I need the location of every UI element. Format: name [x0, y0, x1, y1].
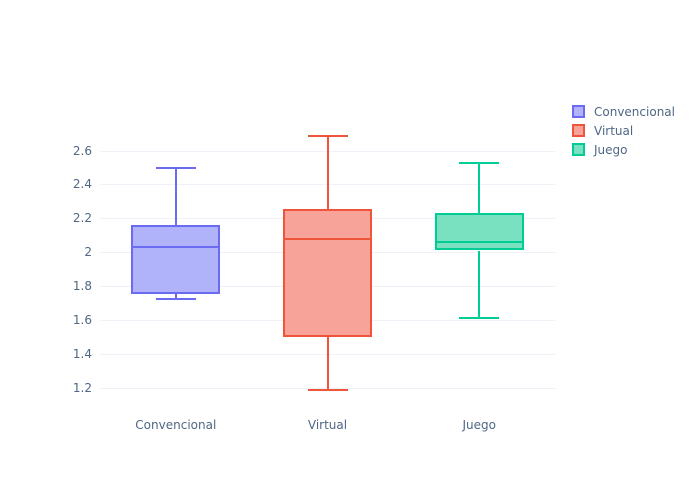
lower-whisker-cap	[459, 317, 499, 319]
y-axis-tick-label: 1.4	[52, 347, 92, 361]
y-axis-tick-label: 1.6	[52, 313, 92, 327]
y-axis-tick-label: 2.6	[52, 144, 92, 158]
legend-swatch-icon	[572, 105, 585, 118]
legend-item-label: Juego	[594, 144, 628, 156]
median-line	[283, 238, 372, 240]
upper-whisker-cap	[156, 167, 196, 169]
lower-whisker-stem	[327, 337, 329, 391]
x-axis-tick-label-juego: Juego	[462, 418, 496, 432]
upper-whisker-cap	[459, 162, 499, 164]
y-axis-tick-label: 2	[52, 245, 92, 259]
box-iqr-rect[interactable]	[283, 209, 372, 337]
x-axis-tick-label-virtual: Virtual	[308, 418, 347, 432]
legend-item-convencional[interactable]: Convencional	[572, 102, 696, 121]
upper-whisker-stem	[327, 135, 329, 209]
legend[interactable]: ConvencionalVirtualJuego	[572, 102, 696, 159]
upper-whisker-stem	[478, 162, 480, 214]
y-axis-tick-label: 2.4	[52, 177, 92, 191]
legend-item-virtual[interactable]: Virtual	[572, 121, 696, 140]
upper-whisker-stem	[175, 167, 177, 225]
legend-item-label: Virtual	[594, 125, 633, 137]
y-axis-tick-labels: 1.21.41.61.822.22.42.6	[48, 125, 92, 405]
y-axis-tick-label: 1.2	[52, 381, 92, 395]
box-iqr-rect[interactable]	[435, 213, 524, 250]
y-axis-tick-label: 2.2	[52, 211, 92, 225]
x-axis-tick-label-convencional: Convencional	[135, 418, 216, 432]
lower-whisker-stem	[478, 251, 480, 319]
median-line	[131, 246, 220, 248]
upper-whisker-cap	[308, 135, 348, 137]
legend-swatch-icon	[572, 143, 585, 156]
plot-area	[100, 125, 555, 405]
lower-whisker-cap	[308, 389, 348, 391]
legend-item-label: Convencional	[594, 106, 675, 118]
x-axis-tick-labels: ConvencionalVirtualJuego	[100, 418, 555, 442]
median-line	[435, 241, 524, 243]
box-iqr-rect[interactable]	[131, 225, 220, 294]
box-plot-figure: 1.21.41.61.822.22.42.6 ConvencionalVirtu…	[0, 0, 700, 500]
legend-swatch-icon	[572, 124, 585, 137]
y-axis-tick-label: 1.8	[52, 279, 92, 293]
legend-item-juego[interactable]: Juego	[572, 140, 696, 159]
lower-whisker-cap	[156, 298, 196, 300]
